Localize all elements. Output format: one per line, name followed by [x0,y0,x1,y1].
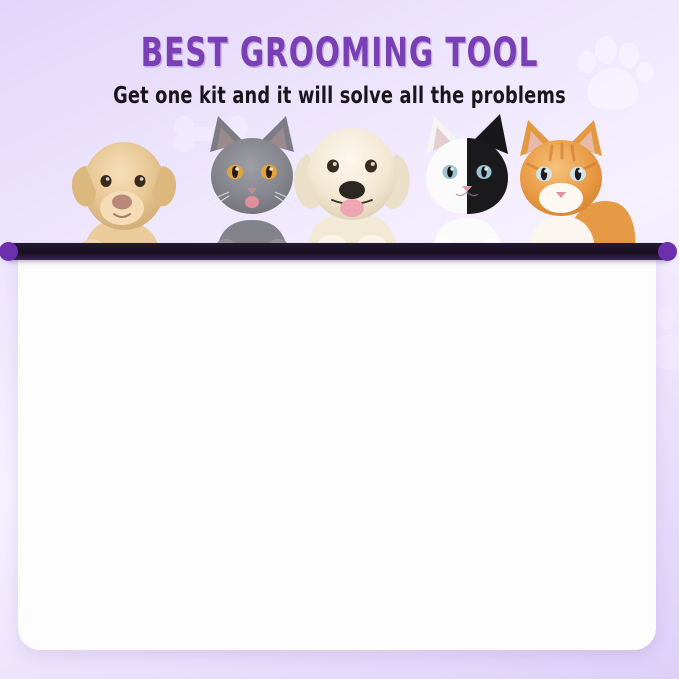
orange-tabby-kitten-photo [506,112,638,260]
animal-photo-row [0,108,679,260]
black-white-kitten-photo [414,110,520,260]
page-subtitle: Get one kit and it will solve all the pr… [48,83,632,109]
page-title: BEST GROOMING TOOL [61,30,618,76]
features-card [18,252,656,650]
golden-retriever-puppy-photo [288,108,416,260]
product-infographic-banner: BEST GROOMING TOOL Get one kit and it wi… [0,0,679,679]
shelf-bar [3,243,673,260]
tan-puppy-photo [62,108,192,260]
